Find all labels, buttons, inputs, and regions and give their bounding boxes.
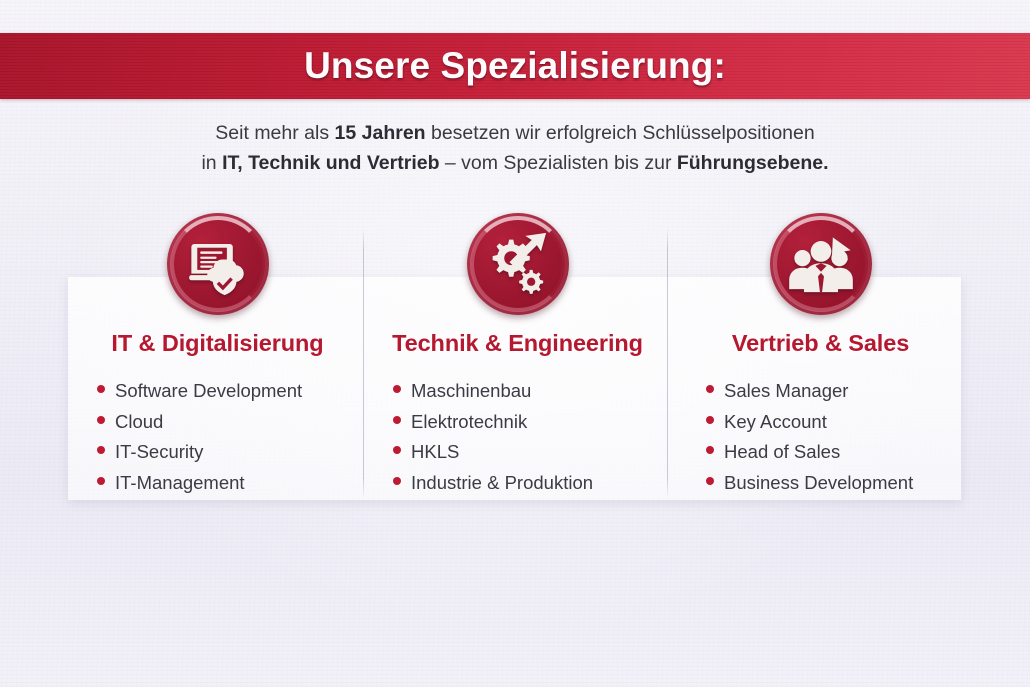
list-item-label: Elektrotechnik — [411, 407, 527, 438]
category-column-technik: Technik & Engineering Maschinenbau Elekt… — [365, 210, 670, 498]
icon-wrap-technik — [365, 210, 670, 318]
list-item-label: Head of Sales — [724, 437, 840, 468]
column-list-vertrieb: Sales Manager Key Account Head of Sales … — [668, 376, 973, 498]
list-item: Business Development — [706, 468, 973, 499]
bullet-icon — [97, 446, 105, 454]
list-item: Sales Manager — [706, 376, 973, 407]
bullet-icon — [706, 385, 714, 393]
columns-container: IT & Digitalisierung Software Developmen… — [0, 0, 1030, 687]
list-item-label: Industrie & Produktion — [411, 468, 593, 499]
bullet-icon — [97, 416, 105, 424]
column-divider-2 — [667, 228, 668, 499]
bullet-icon — [706, 477, 714, 485]
list-item-label: Cloud — [115, 407, 163, 438]
category-column-vertrieb: Vertrieb & Sales Sales Manager Key Accou… — [668, 210, 973, 498]
list-item: Industrie & Produktion — [393, 468, 670, 499]
column-list-it: Software Development Cloud IT-Security I… — [65, 376, 370, 498]
column-title-technik: Technik & Engineering — [365, 330, 670, 357]
list-item-label: Maschinenbau — [411, 376, 531, 407]
column-title-it: IT & Digitalisierung — [65, 330, 370, 357]
team-people-arrow-icon — [770, 213, 872, 315]
list-item-label: Key Account — [724, 407, 827, 438]
list-item: IT-Management — [97, 468, 370, 499]
laptop-cloud-shield-icon — [167, 213, 269, 315]
list-item-label: Sales Manager — [724, 376, 848, 407]
bullet-icon — [706, 446, 714, 454]
slide-canvas: Unsere Spezialisierung: Seit mehr als 15… — [0, 0, 1030, 687]
bullet-icon — [393, 446, 401, 454]
gears-arrow-icon — [467, 213, 569, 315]
column-title-vertrieb: Vertrieb & Sales — [668, 330, 973, 357]
bullet-icon — [97, 385, 105, 393]
icon-wrap-it — [65, 210, 370, 318]
list-item-label: Software Development — [115, 376, 302, 407]
list-item: Head of Sales — [706, 437, 973, 468]
list-item: Elektrotechnik — [393, 407, 670, 438]
bullet-icon — [393, 385, 401, 393]
bullet-icon — [393, 416, 401, 424]
list-item: Cloud — [97, 407, 370, 438]
column-list-technik: Maschinenbau Elektrotechnik HKLS Industr… — [365, 376, 670, 498]
column-divider-1 — [363, 228, 364, 499]
list-item: IT-Security — [97, 437, 370, 468]
list-item: Key Account — [706, 407, 973, 438]
list-item-label: IT-Security — [115, 437, 203, 468]
category-column-it: IT & Digitalisierung Software Developmen… — [65, 210, 370, 498]
list-item-label: Business Development — [724, 468, 913, 499]
list-item-label: HKLS — [411, 437, 459, 468]
list-item-label: IT-Management — [115, 468, 245, 499]
list-item: Maschinenbau — [393, 376, 670, 407]
bullet-icon — [393, 477, 401, 485]
list-item: HKLS — [393, 437, 670, 468]
bullet-icon — [706, 416, 714, 424]
bullet-icon — [97, 477, 105, 485]
icon-wrap-vertrieb — [668, 210, 973, 318]
list-item: Software Development — [97, 376, 370, 407]
